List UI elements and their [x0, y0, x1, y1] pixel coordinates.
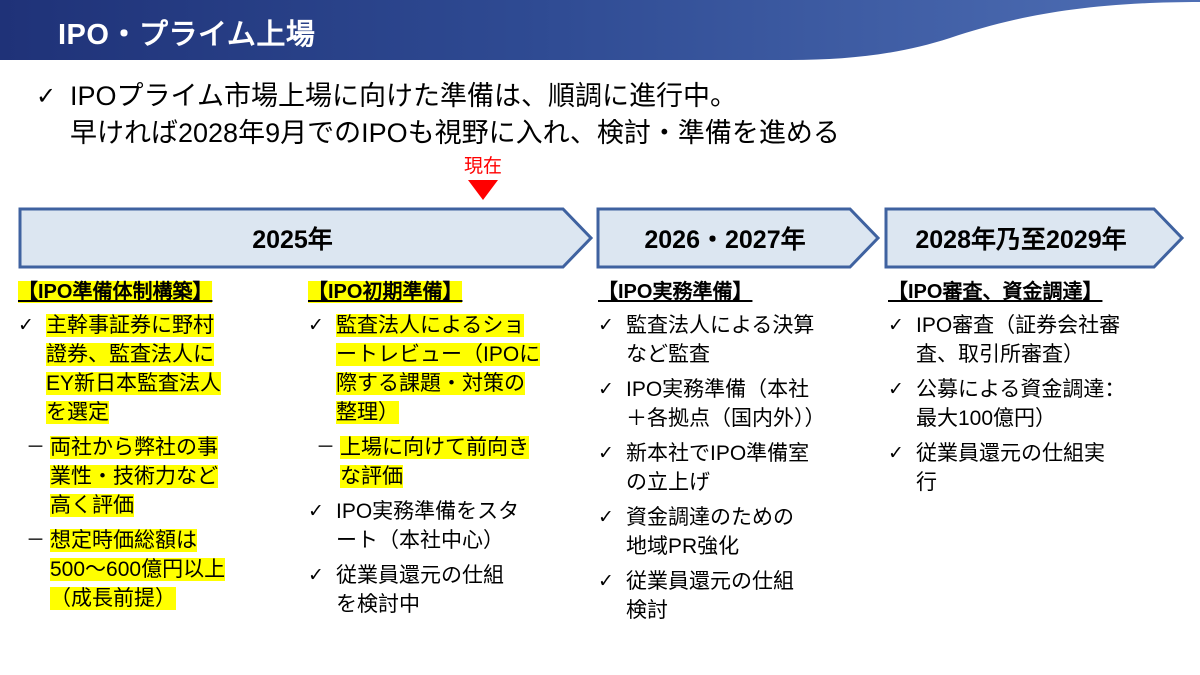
- check-icon: ✓: [888, 375, 916, 404]
- slide-title-bar: IPO・プライム上場: [0, 0, 1200, 62]
- check-icon: ✓: [888, 311, 916, 340]
- highlighted-text: 想定時価総額は: [50, 529, 197, 552]
- list-item: －想定時価総額は500〜600億円以上（成長前提）: [18, 526, 308, 613]
- list-item: ✓監査法人による決算など監査: [598, 311, 888, 369]
- list-item-text: 想定時価総額は500〜600億円以上（成長前提）: [50, 526, 225, 613]
- list-item-line: ートレビュー（IPOに: [336, 340, 540, 369]
- list-item-line: 業性・技術力など: [50, 462, 218, 491]
- column-ipo-initial-prep: 【IPO初期準備】✓監査法人によるショートレビュー（IPOに際する課題・対策の整…: [308, 279, 598, 619]
- check-icon: ✓: [598, 567, 626, 596]
- list-item-line: 際する課題・対策の: [336, 369, 540, 398]
- list-item: ✓主幹事証券に野村證券、監査法人にEY新日本監査法人を選定: [18, 311, 308, 427]
- list-item-line: 監査法人によるショ: [336, 311, 540, 340]
- list-item-text: 監査法人による決算など監査: [626, 311, 814, 369]
- list-item-text: 資金調達のための地域PR強化: [626, 503, 794, 561]
- list-item-line: を選定: [46, 398, 221, 427]
- list-item-line: 査、取引所審査）: [916, 340, 1120, 369]
- list-item-line: ート（本社中心）: [336, 526, 519, 555]
- list-item-line: IPO実務準備をスタ: [336, 497, 519, 526]
- column-header: 【IPO初期準備】: [308, 279, 598, 305]
- list-item-line: ＋各拠点（国内外））: [626, 404, 826, 433]
- timeline-phase-1[interactable]: 2025年: [18, 207, 593, 269]
- highlighted-text: 高く評価: [50, 494, 134, 517]
- highlighted-text: EY新日本監査法人: [46, 372, 221, 395]
- highlighted-text: 業性・技術力など: [50, 465, 218, 488]
- list-item-line: 上場に向けて前向き: [340, 433, 529, 462]
- list-item-line: 行: [916, 468, 1105, 497]
- list-item: －上場に向けて前向きな評価: [308, 433, 598, 491]
- list-item: ✓資金調達のための地域PR強化: [598, 503, 888, 561]
- check-icon: ✓: [308, 497, 336, 526]
- lead-line-2: 早ければ2028年9月でのIPOも視野に入れ、検討・準備を進める: [36, 115, 1176, 152]
- dash-icon: －: [26, 526, 50, 555]
- check-icon: ✓: [888, 439, 916, 468]
- column-header-text: 【IPO初期準備】: [308, 281, 462, 303]
- highlighted-text: 際する課題・対策の: [336, 372, 525, 395]
- list-item-text: 主幹事証券に野村證券、監査法人にEY新日本監査法人を選定: [46, 311, 221, 427]
- list-item-text: 従業員還元の仕組検討: [626, 567, 794, 625]
- column-ipo-practical-prep: 【IPO実務準備】✓監査法人による決算など監査✓IPO実務準備（本社＋各拠点（国…: [598, 279, 888, 625]
- check-icon: ✓: [308, 561, 336, 590]
- dash-icon: －: [316, 433, 340, 462]
- column-header: 【IPO準備体制構築】: [18, 279, 308, 305]
- highlighted-text: 整理）: [336, 401, 399, 424]
- list-item-line: 想定時価総額は: [50, 526, 225, 555]
- check-icon: ✓: [598, 503, 626, 532]
- check-icon: ✓: [598, 311, 626, 340]
- current-time-label: 現在: [448, 156, 518, 178]
- column-header: 【IPO実務準備】: [598, 279, 888, 305]
- list-item-line: 従業員還元の仕組: [626, 567, 794, 596]
- list-item: ✓監査法人によるショートレビュー（IPOに際する課題・対策の整理）: [308, 311, 598, 427]
- list-item-text: 新本社でIPO準備室の立上げ: [626, 439, 809, 497]
- timeline-phase-1-label: 2025年: [18, 207, 567, 269]
- list-item-line: 検討: [626, 596, 794, 625]
- down-triangle-icon: [468, 180, 498, 200]
- check-icon: ✓: [18, 311, 46, 340]
- highlighted-text: （成長前提）: [50, 587, 176, 610]
- timeline-phases: 2025年 2026・2027年 2028年乃至2029年: [0, 207, 1200, 269]
- list-item: ✓従業員還元の仕組検討: [598, 567, 888, 625]
- lead-line-1-row: ✓ IPOプライム市場上場に向けた準備は、順調に進行中。: [36, 78, 1176, 115]
- list-item-text: 従業員還元の仕組実行: [916, 439, 1105, 497]
- highlighted-text: 上場に向けて前向き: [340, 436, 529, 459]
- check-icon: ✓: [598, 439, 626, 468]
- list-item: ✓IPO審査（証券会社審査、取引所審査）: [888, 311, 1188, 369]
- list-item-line: 最大100億円）: [916, 404, 1125, 433]
- list-item-text: IPO審査（証券会社審査、取引所審査）: [916, 311, 1120, 369]
- list-item: ✓IPO実務準備（本社＋各拠点（国内外））: [598, 375, 888, 433]
- list-item-line: 公募による資金調達：: [916, 375, 1125, 404]
- list-item-line: 従業員還元の仕組: [336, 561, 504, 590]
- highlighted-text: 500〜600億円以上: [50, 558, 225, 581]
- list-item-line: 両社から弊社の事: [50, 433, 218, 462]
- column-ipo-review-funding: 【IPO審査、資金調達】✓IPO審査（証券会社審査、取引所審査）✓公募による資金…: [888, 279, 1188, 497]
- list-item-text: 両社から弊社の事業性・技術力など高く評価: [50, 433, 218, 520]
- check-icon: ✓: [36, 78, 70, 115]
- highlighted-text: ートレビュー（IPOに: [336, 343, 540, 366]
- list-item-line: 監査法人による決算: [626, 311, 814, 340]
- list-item-line: 地域PR強化: [626, 532, 794, 561]
- list-item-line: 高く評価: [50, 491, 218, 520]
- highlighted-text: 主幹事証券に野村: [46, 314, 214, 337]
- highlighted-text: 證券、監査法人に: [46, 343, 214, 366]
- list-item-text: 上場に向けて前向きな評価: [340, 433, 529, 491]
- check-icon: ✓: [598, 375, 626, 404]
- list-item-line: 整理）: [336, 398, 540, 427]
- list-item-line: 主幹事証券に野村: [46, 311, 221, 340]
- highlighted-text: 監査法人によるショ: [336, 314, 524, 337]
- list-item-line: 従業員還元の仕組実: [916, 439, 1105, 468]
- list-item-text: 監査法人によるショートレビュー（IPOに際する課題・対策の整理）: [336, 311, 540, 427]
- timeline-phase-3-label: 2028年乃至2029年: [884, 207, 1158, 269]
- list-item-text: 公募による資金調達：最大100億円）: [916, 375, 1125, 433]
- list-item: ✓従業員還元の仕組実行: [888, 439, 1188, 497]
- list-item-line: など監査: [626, 340, 814, 369]
- list-item-line: IPO実務準備（本社: [626, 375, 826, 404]
- list-item-line: IPO審査（証券会社審: [916, 311, 1120, 340]
- list-item-line: 500〜600億円以上: [50, 555, 225, 584]
- highlighted-text: 両社から弊社の事: [50, 436, 218, 459]
- highlighted-text: を選定: [46, 401, 109, 424]
- list-item-line: 資金調達のための: [626, 503, 794, 532]
- list-item: －両社から弊社の事業性・技術力など高く評価: [18, 433, 308, 520]
- list-item-line: の立上げ: [626, 468, 809, 497]
- page-title: IPO・プライム上場: [58, 11, 315, 53]
- column-header-text: 【IPO準備体制構築】: [18, 281, 212, 303]
- current-time-marker: 現在: [448, 156, 518, 200]
- list-item: ✓公募による資金調達：最大100億円）: [888, 375, 1188, 433]
- dash-icon: －: [26, 433, 50, 462]
- check-icon: ✓: [308, 311, 336, 340]
- list-item-text: 従業員還元の仕組を検討中: [336, 561, 504, 619]
- list-item-text: IPO実務準備（本社＋各拠点（国内外））: [626, 375, 826, 433]
- content-columns: 【IPO準備体制構築】✓主幹事証券に野村證券、監査法人にEY新日本監査法人を選定…: [0, 279, 1200, 671]
- list-item: ✓IPO実務準備をスタート（本社中心）: [308, 497, 598, 555]
- list-item: ✓新本社でIPO準備室の立上げ: [598, 439, 888, 497]
- list-item-line: EY新日本監査法人: [46, 369, 221, 398]
- lead-paragraph: ✓ IPOプライム市場上場に向けた準備は、順調に進行中。 早ければ2028年9月…: [36, 78, 1176, 152]
- list-item-line: を検討中: [336, 590, 504, 619]
- lead-line-1: IPOプライム市場上場に向けた準備は、順調に進行中。: [70, 78, 737, 115]
- timeline-phase-3[interactable]: 2028年乃至2029年: [884, 207, 1184, 269]
- highlighted-text: な評価: [340, 465, 403, 488]
- timeline-phase-2[interactable]: 2026・2027年: [596, 207, 880, 269]
- column-header: 【IPO審査、資金調達】: [888, 279, 1188, 305]
- list-item-text: IPO実務準備をスタート（本社中心）: [336, 497, 519, 555]
- timeline-phase-2-label: 2026・2027年: [596, 207, 854, 269]
- list-item-line: 證券、監査法人に: [46, 340, 221, 369]
- list-item-line: 新本社でIPO準備室: [626, 439, 809, 468]
- list-item: ✓従業員還元の仕組を検討中: [308, 561, 598, 619]
- list-item-line: （成長前提）: [50, 584, 225, 613]
- list-item-line: な評価: [340, 462, 529, 491]
- column-ipo-prep-structure: 【IPO準備体制構築】✓主幹事証券に野村證券、監査法人にEY新日本監査法人を選定…: [18, 279, 308, 613]
